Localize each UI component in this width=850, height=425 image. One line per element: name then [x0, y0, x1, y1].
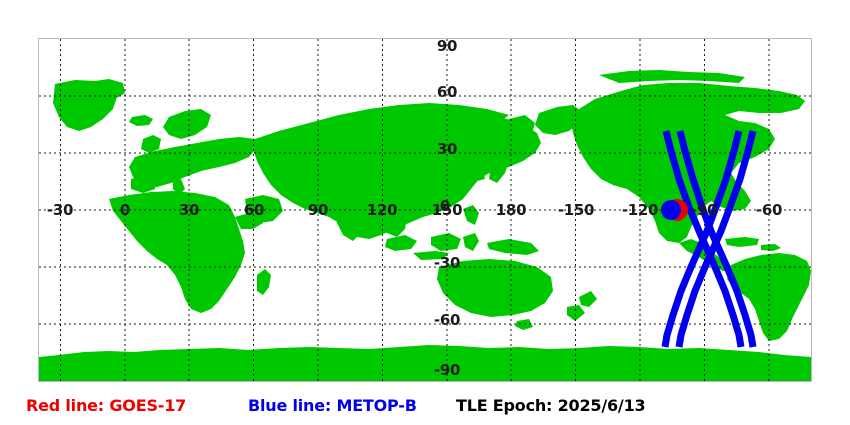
lat-label-60: 60: [437, 83, 457, 101]
land-antarctica: [39, 345, 811, 381]
satellite-ground-track-map: 90 60 30 0 -30 -60 -90 -30 0 30 60 90 12…: [0, 0, 850, 425]
lon-label-0: 0: [120, 201, 130, 219]
lon-label-60: 60: [244, 201, 264, 219]
legend-red-line: Red line: GOES-17: [26, 396, 186, 415]
lat-label--30: -30: [434, 254, 460, 272]
lon-label-90: 90: [308, 201, 328, 219]
lon-label--90: -90: [691, 201, 717, 219]
lon-label-30: 30: [179, 201, 199, 219]
lat-label--90: -90: [434, 361, 460, 379]
track-crossing-knot: [661, 200, 681, 220]
lon-label--150: -150: [558, 201, 594, 219]
legend-blue-line: Blue line: METOP-B: [248, 396, 417, 415]
lon-label--60: -60: [756, 201, 782, 219]
lon-label-180: 180: [496, 201, 526, 219]
lon-label--120: -120: [622, 201, 658, 219]
lat-label--60: -60: [434, 311, 460, 329]
lon-label-120: 120: [367, 201, 397, 219]
world-map-frame: 90 60 30 0 -30 -60 -90 -30 0 30 60 90 12…: [38, 38, 812, 382]
lat-label-90: 90: [437, 38, 457, 55]
lat-label-30: 30: [437, 140, 457, 158]
lon-label--30: -30: [47, 201, 73, 219]
legend-bar: Red line: GOES-17 Blue line: METOP-B TLE…: [0, 392, 850, 425]
legend-tle-epoch: TLE Epoch: 2025/6/13: [456, 396, 645, 415]
lon-label-150: 150: [432, 201, 462, 219]
